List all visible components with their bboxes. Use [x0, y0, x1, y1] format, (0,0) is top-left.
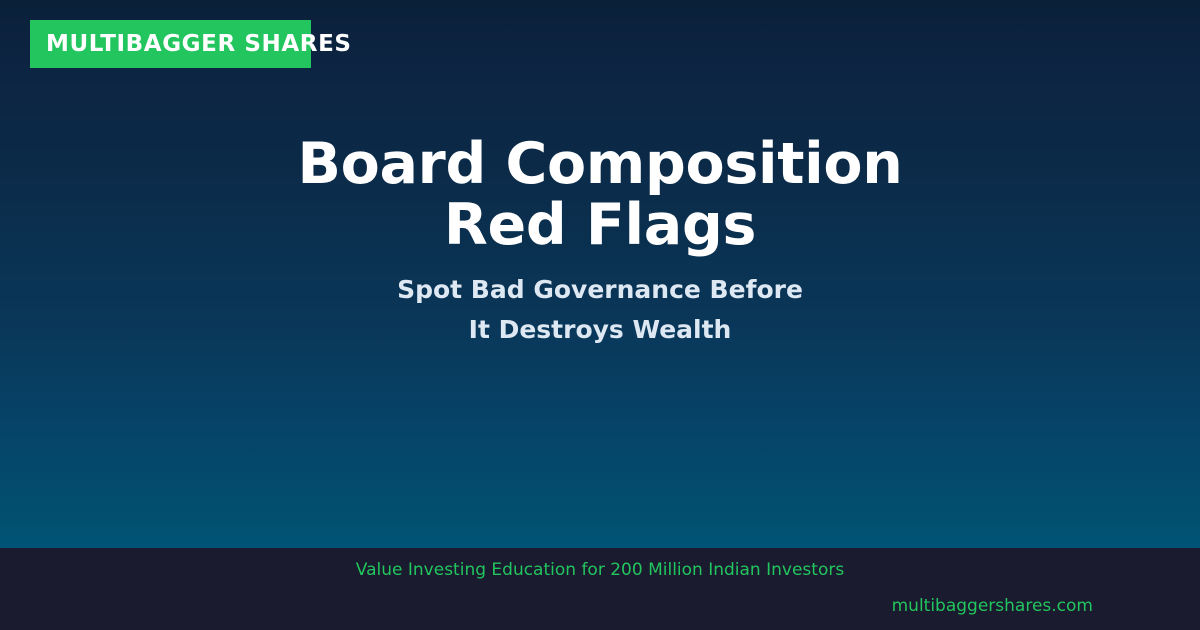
- headline-block: Board Composition Red Flags Spot Bad Gov…: [0, 134, 1200, 350]
- footer-tagline: Value Investing Education for 200 Millio…: [0, 558, 1200, 582]
- social-share-card: MULTIBAGGER SHARES Board Composition Red…: [0, 0, 1200, 630]
- page-subtitle: Spot Bad Governance Before It Destroys W…: [385, 270, 815, 350]
- footer-bar: Value Investing Education for 200 Millio…: [0, 548, 1200, 630]
- brand-badge-label: MULTIBAGGER SHARES: [46, 20, 352, 68]
- hero-section: MULTIBAGGER SHARES Board Composition Red…: [0, 0, 1200, 548]
- footer-website-url[interactable]: multibaggershares.com: [892, 594, 1093, 618]
- page-title: Board Composition Red Flags: [270, 134, 930, 256]
